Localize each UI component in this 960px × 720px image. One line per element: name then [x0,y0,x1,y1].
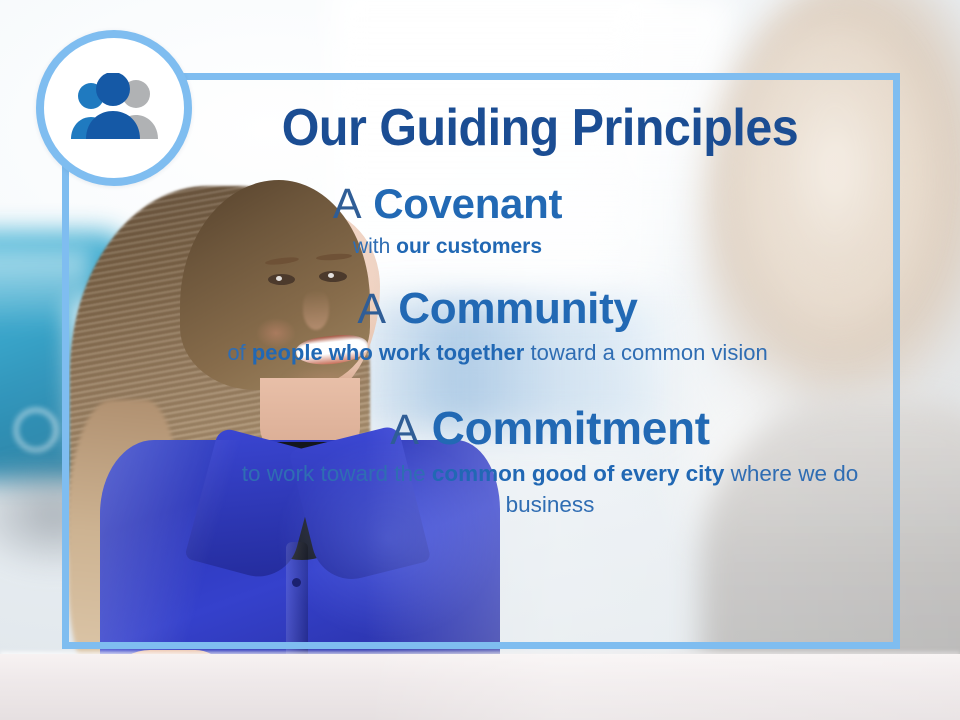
page-title: Our Guiding Principles [224,98,856,158]
principle-community: A Community of people who work together … [200,286,900,367]
principle-community-sub-bold: people who work together [252,340,525,365]
principle-community-heading: A Community [200,286,795,332]
principle-community-sub-lead: of [227,340,251,365]
principle-covenant-article: A [333,180,362,228]
principle-community-noun: Community [398,284,637,333]
principle-commitment-subtext: to work toward the common good of every … [200,459,900,520]
principle-covenant-subtext: with our customers [200,233,695,261]
principle-commitment: A Commitment to work toward the common g… [200,405,900,520]
principle-covenant-sub-lead: with [353,235,396,258]
principle-commitment-article: A [390,406,419,454]
principle-community-sub-tail: toward a common vision [524,340,767,365]
principle-community-article: A [357,285,386,333]
principle-commitment-heading: A Commitment [200,405,900,453]
principle-covenant: A Covenant with our customers [200,182,900,260]
principle-commitment-sub-bold: common good of every city [432,461,725,486]
people-group-icon [62,73,166,143]
desk-surface [0,654,960,720]
blurred-vw-logo-icon [14,408,58,452]
principle-covenant-noun: Covenant [373,180,562,227]
principles-list: A Covenant with our customers A Communit… [200,180,900,520]
principle-community-subtext: of people who work together toward a com… [200,338,795,367]
principle-covenant-heading: A Covenant [200,182,695,227]
principle-commitment-sub-lead: to work toward the [242,461,432,486]
principle-commitment-noun: Commitment [432,402,710,454]
marketing-graphic: FLOW AUTOMOTIVE FLOW [0,0,960,720]
people-group-badge [36,30,192,186]
principle-covenant-sub-bold: our customers [396,235,542,258]
subject-shirt-button-top [292,578,301,587]
